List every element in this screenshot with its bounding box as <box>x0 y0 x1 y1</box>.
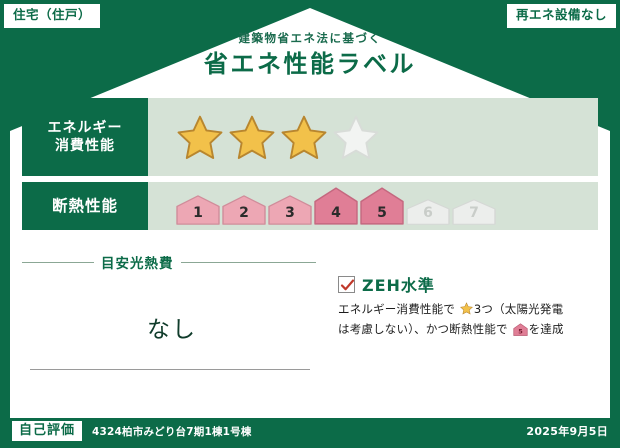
insulation-level-3: 3 <box>268 195 312 225</box>
insulation-level-7: 7 <box>452 199 496 225</box>
insulation-level-number: 7 <box>452 206 496 220</box>
inline-star-icon <box>460 302 473 321</box>
insulation-level-number: 2 <box>222 206 266 220</box>
building-name: 4324柏市みどり台7期1棟1号棟 <box>92 424 252 439</box>
badge-dwelling-type: 住宅（住戸） <box>4 4 100 28</box>
heading-rule-left <box>22 262 94 263</box>
energy-consumption-value <box>148 98 598 176</box>
utility-cost-value: なし <box>22 310 322 344</box>
zeh-checkbox-checked-icon <box>338 276 355 293</box>
row-energy-consumption: エネルギー 消費性能 <box>22 98 598 176</box>
star-rating <box>176 114 380 160</box>
zeh-line2-text-b: を達成 <box>529 322 564 336</box>
zeh-line1-text-a: エネルギー消費性能で <box>338 302 455 316</box>
insulation-level-number: 6 <box>406 206 450 220</box>
row-insulation-performance: 断熱性能 1234567 <box>22 182 598 230</box>
heading-rule-right <box>181 262 317 263</box>
zeh-panel: ZEH水準 エネルギー消費性能で 3つ（太陽光発電 は考慮しない）、かつ断熱性能… <box>322 252 598 406</box>
inline-house-level-icon: 5 <box>513 323 528 342</box>
insulation-level-number: 3 <box>268 206 312 220</box>
evaluation-type-badge: 自己評価 <box>12 421 82 441</box>
badge-renewable-equipment: 再エネ設備なし <box>507 4 616 28</box>
energy-label-line-2: 消費性能 <box>55 137 115 155</box>
performance-rows: エネルギー 消費性能 断熱性能 1234567 <box>22 98 598 236</box>
insulation-level-2: 2 <box>222 195 266 225</box>
star-filled-icon <box>176 114 224 160</box>
insulation-performance-label: 断熱性能 <box>22 182 148 230</box>
page-title: 省エネ性能ラベル <box>0 49 620 79</box>
insulation-level-number: 1 <box>176 206 220 220</box>
energy-performance-label: 住宅（住戸） 再エネ設備なし 建築物省エネ法に基づく 省エネ性能ラベル エネルギ… <box>0 0 620 448</box>
svg-text:5: 5 <box>518 327 523 335</box>
zeh-heading: ZEH水準 <box>338 272 598 296</box>
utility-cost-heading-text: 目安光熱費 <box>101 252 174 272</box>
zeh-line2-text-a: は考慮しない）、かつ断熱性能で <box>338 322 508 336</box>
star-filled-icon <box>228 114 276 160</box>
insulation-performance-value: 1234567 <box>148 182 598 230</box>
utility-cost-panel: 目安光熱費 なし <box>22 252 322 406</box>
zeh-description: エネルギー消費性能で 3つ（太陽光発電 は考慮しない）、かつ断熱性能で 5 <box>338 301 598 342</box>
zeh-line1-text-b: 3つ（太陽光発電 <box>474 302 563 316</box>
zeh-description-line-2: は考慮しない）、かつ断熱性能で 5 を達成 <box>338 321 598 342</box>
insulation-level-1: 1 <box>176 195 220 225</box>
insulation-level-number: 4 <box>314 206 358 220</box>
utility-cost-heading: 目安光熱費 <box>22 252 322 272</box>
energy-consumption-label: エネルギー 消費性能 <box>22 98 148 176</box>
energy-label-line-1: エネルギー <box>48 119 123 137</box>
label-title-block: 建築物省エネ法に基づく 省エネ性能ラベル <box>0 32 620 79</box>
star-filled-icon <box>280 114 328 160</box>
insulation-level-scale: 1234567 <box>176 187 496 225</box>
title-subtitle: 建築物省エネ法に基づく <box>0 32 620 46</box>
issue-date: 2025年9月5日 <box>526 423 608 439</box>
star-empty-icon <box>332 114 380 160</box>
label-footer: 自己評価 4324柏市みどり台7期1棟1号棟 2025年9月5日 <box>0 414 620 448</box>
insulation-level-5: 5 <box>360 187 404 225</box>
insulation-level-4: 4 <box>314 187 358 225</box>
lower-section: 目安光熱費 なし ZEH水準 エネルギー消費性能で <box>22 252 598 406</box>
cost-panel-divider <box>30 369 310 370</box>
zeh-description-line-1: エネルギー消費性能で 3つ（太陽光発電 <box>338 301 598 321</box>
insulation-label-text: 断熱性能 <box>52 196 118 216</box>
insulation-level-number: 5 <box>360 206 404 220</box>
insulation-level-6: 6 <box>406 199 450 225</box>
zeh-title: ZEH水準 <box>362 272 435 296</box>
